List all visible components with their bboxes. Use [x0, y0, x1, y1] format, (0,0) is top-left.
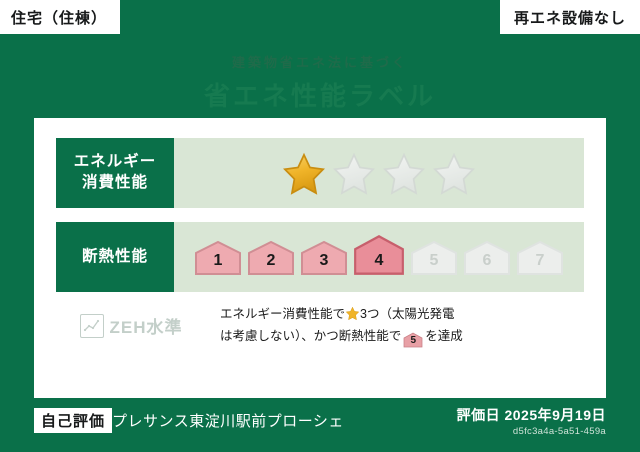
insulation-grade-label: 3	[320, 252, 329, 276]
label-card: エネルギー 消費性能 断熱性能 1234567	[34, 118, 606, 398]
evaluation-date: 評価日 2025年9月19日	[457, 405, 606, 425]
star-empty-icon	[381, 151, 427, 195]
zeh-desc-stars: 3つ（太陽光発電	[360, 307, 454, 321]
page-title: 省エネ性能ラベル	[0, 76, 640, 113]
evaluation-date-value: 2025年9月19日	[504, 407, 606, 423]
evaluation-id: d5fc3a4a-5a51-459a	[513, 426, 606, 437]
insulation-grade-2: 2	[247, 240, 295, 276]
building-type-tag: 住宅（住棟）	[0, 0, 120, 34]
star-empty-icon	[431, 151, 477, 195]
insulation-grade-5: 5	[410, 240, 458, 276]
star-rating	[281, 151, 477, 195]
inline-grade-value: 5	[403, 332, 423, 350]
insulation-grade-label: 2	[267, 252, 276, 276]
insulation-grade-4: 4	[353, 234, 405, 276]
insulation-performance-row: 断熱性能 1234567	[56, 222, 584, 292]
insulation-grade-1: 1	[194, 240, 242, 276]
energy-label-line2: 消費性能	[82, 173, 148, 194]
energy-performance-row: エネルギー 消費性能	[56, 138, 584, 208]
energy-label-root: 住宅（住棟） 再エネ設備なし 建築物省エネ法に基づく 省エネ性能ラベル エネルギ…	[0, 0, 640, 452]
insulation-grade-6: 6	[463, 240, 511, 276]
title-subtitle: 建築物省エネ法に基づく	[0, 52, 640, 71]
zeh-chart-icon	[80, 314, 104, 338]
renewable-energy-tag: 再エネ設備なし	[500, 0, 640, 34]
zeh-desc-part1: エネルギー消費性能で	[220, 307, 345, 321]
inline-grade-badge: 5	[403, 332, 423, 348]
insulation-grade-scale: 1234567	[194, 234, 564, 280]
insulation-grade-label: 1	[214, 252, 223, 276]
zeh-desc-part3: を達成	[425, 329, 463, 343]
insulation-grade-label: 6	[483, 252, 492, 276]
self-evaluation-badge: 自己評価	[34, 408, 112, 433]
star-filled-icon	[281, 151, 327, 195]
zeh-note: ZEH水準 エネルギー消費性能で3つ（太陽光発電 は考慮しない）、かつ断熱性能で…	[56, 304, 584, 348]
insulation-grade-label: 7	[536, 252, 545, 276]
building-name: プレサンス東淀川駅前プローシェ	[112, 410, 344, 431]
zeh-description: エネルギー消費性能で3つ（太陽光発電 は考慮しない）、かつ断熱性能で5を達成	[220, 304, 584, 348]
insulation-performance-label: 断熱性能	[56, 222, 174, 292]
label-title-block: 建築物省エネ法に基づく 省エネ性能ラベル	[0, 52, 640, 113]
inline-star-icon	[345, 306, 360, 321]
zeh-desc-part2: は考慮しない）、かつ断熱性能で	[220, 329, 401, 343]
energy-performance-label: エネルギー 消費性能	[56, 138, 174, 208]
insulation-rating-body: 1234567	[174, 222, 584, 292]
insulation-grade-label: 4	[375, 252, 384, 276]
zeh-mark: ZEH水準	[56, 313, 206, 338]
insulation-grade-7: 7	[516, 240, 564, 276]
evaluation-date-label: 評価日	[457, 407, 501, 423]
label-footer: 自己評価 プレサンス東淀川駅前プローシェ 評価日 2025年9月19日 d5fc…	[0, 398, 640, 452]
insulation-label-line1: 断熱性能	[82, 247, 148, 268]
star-empty-icon	[331, 151, 377, 195]
energy-label-line1: エネルギー	[74, 152, 157, 173]
insulation-grade-label: 5	[430, 252, 439, 276]
insulation-grade-3: 3	[300, 240, 348, 276]
energy-rating-body	[174, 138, 584, 208]
zeh-label: ZEH水準	[110, 313, 183, 338]
